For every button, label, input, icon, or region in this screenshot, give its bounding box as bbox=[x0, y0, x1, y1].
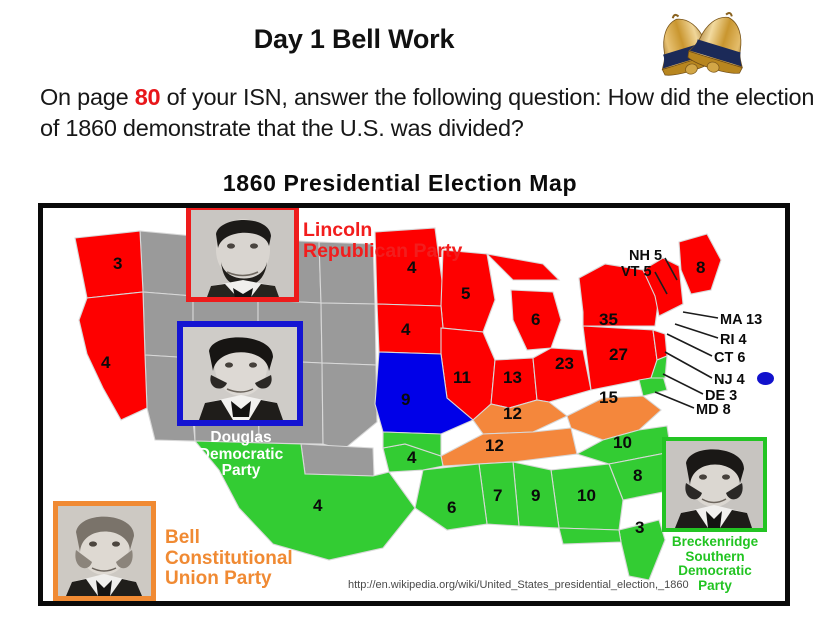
ev-ME: 8 bbox=[696, 258, 705, 278]
callout-ma: MA 13 bbox=[720, 312, 762, 328]
ev-OH: 23 bbox=[555, 354, 574, 374]
portrait-breckenridge bbox=[662, 437, 767, 532]
label-douglas-party-2: Party bbox=[171, 463, 311, 480]
callout-ct: CT 6 bbox=[714, 350, 745, 366]
ev-KY: 12 bbox=[503, 404, 522, 424]
label-lincoln: Lincoln Republican Party bbox=[303, 220, 462, 262]
callout-md: MD 8 bbox=[696, 402, 731, 418]
portrait-bell bbox=[53, 501, 156, 601]
label-douglas: Douglas Democratic Party bbox=[171, 430, 311, 480]
map-inner: 3 4 4 5 6 4 11 13 23 27 35 8 9 12 12 15 … bbox=[43, 208, 785, 601]
ev-MI: 6 bbox=[531, 310, 540, 330]
nj-split-vote-dot bbox=[757, 372, 774, 385]
label-bell-party-1: Constitutional bbox=[165, 549, 293, 570]
ev-MS: 7 bbox=[493, 486, 502, 506]
label-bell-party-2: Union Party bbox=[165, 569, 293, 590]
ev-TN: 12 bbox=[485, 436, 504, 456]
prompt-text: On page 80 of your ISN, answer the follo… bbox=[40, 82, 828, 144]
bells-icon bbox=[645, 8, 757, 80]
ev-AL: 9 bbox=[531, 486, 540, 506]
ev-IL: 11 bbox=[453, 368, 471, 388]
ev-NY: 35 bbox=[599, 310, 618, 330]
label-douglas-name: Douglas bbox=[171, 430, 311, 447]
ev-IA: 4 bbox=[401, 320, 410, 340]
callout-vt: VT 5 bbox=[621, 264, 652, 280]
ev-NC: 10 bbox=[613, 433, 632, 453]
label-breck-party-1: Southern bbox=[647, 550, 783, 565]
ev-LA: 6 bbox=[447, 498, 456, 518]
ev-PA: 27 bbox=[609, 345, 628, 365]
label-bell: Bell Constitutional Union Party bbox=[165, 528, 293, 590]
election-map: 3 4 4 5 6 4 11 13 23 27 35 8 9 12 12 15 … bbox=[38, 203, 790, 606]
ev-TX: 4 bbox=[313, 496, 322, 516]
label-lincoln-name: Lincoln bbox=[303, 220, 462, 241]
label-breck-name: Breckenridge bbox=[647, 535, 783, 550]
ev-OR: 3 bbox=[113, 254, 122, 274]
map-title: 1860 Presidential Election Map bbox=[0, 170, 800, 197]
label-breck-party-3: Party bbox=[647, 579, 783, 594]
callout-nj: NJ 4 bbox=[714, 372, 745, 388]
label-douglas-party-1: Democratic bbox=[171, 447, 311, 464]
slide-canvas: Day 1 Bell Work bbox=[0, 0, 828, 621]
page-number-highlight: 80 bbox=[135, 84, 161, 110]
label-breckenridge: Breckenridge Southern Democratic Party bbox=[647, 535, 783, 593]
label-breck-party-2: Democratic bbox=[647, 564, 783, 579]
callout-ri: RI 4 bbox=[720, 332, 747, 348]
ev-MO: 9 bbox=[401, 390, 410, 410]
portrait-lincoln bbox=[186, 205, 299, 302]
portrait-douglas bbox=[177, 321, 303, 426]
ev-CA: 4 bbox=[101, 353, 110, 373]
ev-AR: 4 bbox=[407, 448, 416, 468]
ev-IN: 13 bbox=[503, 368, 522, 388]
ev-VA: 15 bbox=[599, 388, 618, 408]
callout-nh: NH 5 bbox=[629, 248, 662, 264]
ev-WI: 5 bbox=[461, 284, 470, 304]
ev-GA: 10 bbox=[577, 486, 596, 506]
ev-SC: 8 bbox=[633, 466, 642, 486]
ev-FL: 3 bbox=[635, 518, 644, 538]
label-bell-name: Bell bbox=[165, 528, 293, 549]
source-url: http://en.wikipedia.org/wiki/United_Stat… bbox=[348, 579, 689, 591]
prompt-text-before: On page bbox=[40, 84, 135, 110]
label-lincoln-party: Republican Party bbox=[303, 241, 462, 262]
